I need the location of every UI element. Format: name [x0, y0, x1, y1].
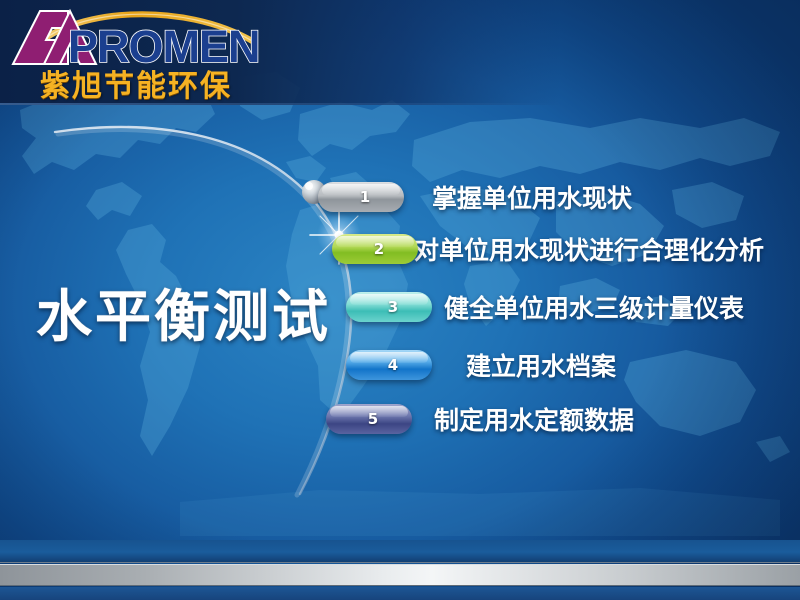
footer-bar [0, 540, 800, 600]
presentation-slide: PROMEN 紫旭节能环保 水平衡测试 1 掌握单位用水 [0, 0, 800, 600]
step-item-2[interactable]: 2 对单位用水现状进行合理化分析 [332, 232, 764, 266]
step-number-1: 1 [318, 182, 404, 212]
step-label-2: 对单位用水现状进行合理化分析 [414, 231, 764, 267]
step-item-4[interactable]: 4 建立用水档案 [346, 348, 616, 382]
step-label-1: 掌握单位用水现状 [432, 179, 632, 215]
step-item-3[interactable]: 3 健全单位用水三级计量仪表 [346, 290, 744, 324]
step-pill-2[interactable]: 2 [332, 234, 418, 264]
step-label-3: 健全单位用水三级计量仪表 [444, 289, 744, 325]
step-label-5: 制定用水定额数据 [434, 401, 634, 437]
steps-list: 1 掌握单位用水现状 2 对单位用水现状进行合理化分析 3 健全单位用水三级计量… [0, 0, 800, 600]
step-item-1[interactable]: 1 掌握单位用水现状 [318, 180, 632, 214]
step-number-3: 3 [346, 292, 432, 322]
footer-band-bottom [0, 587, 800, 600]
step-pill-1[interactable]: 1 [318, 182, 404, 212]
footer-silver-bar-icon [0, 564, 800, 586]
step-pill-5[interactable]: 5 [326, 404, 412, 434]
step-item-5[interactable]: 5 制定用水定额数据 [326, 402, 634, 436]
step-label-4: 建立用水档案 [466, 347, 616, 383]
footer-band-top [0, 540, 800, 563]
step-number-4: 4 [346, 350, 432, 380]
step-pill-3[interactable]: 3 [346, 292, 432, 322]
step-number-5: 5 [326, 404, 412, 434]
step-number-2: 2 [332, 234, 418, 264]
step-pill-4[interactable]: 4 [346, 350, 432, 380]
